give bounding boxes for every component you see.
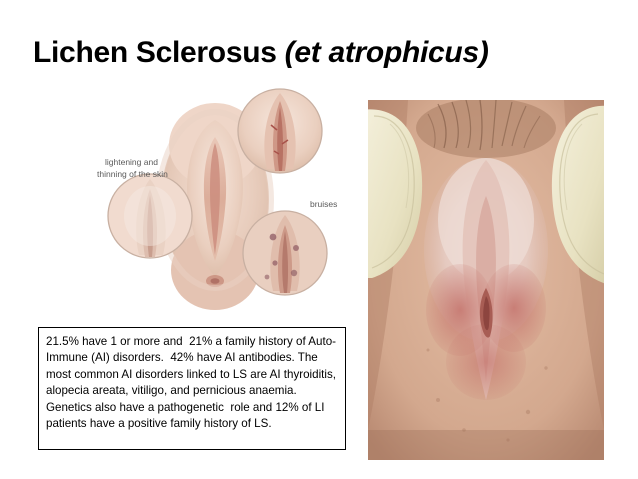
fact-text-box-content: 21.5% have 1 or more and 21% a family hi…	[46, 334, 338, 432]
page-title-italic: (et atrophicus)	[285, 36, 489, 69]
vulva-anatomy-diagram: cuts lightening and thinning of the skin	[95, 85, 340, 315]
page-title: Lichen Sclerosus (et atrophicus)	[33, 36, 489, 70]
illustration-label-lightening: lightening and	[105, 157, 158, 167]
clinical-photograph-vulva-lichen-sclerosus	[368, 100, 604, 460]
illustration-callout-cuts: cuts	[238, 85, 322, 173]
page-title-main: Lichen Sclerosus	[33, 36, 285, 69]
illustration-label-thinning: thinning of the skin	[97, 169, 168, 179]
illustration-label-bruises: bruises	[310, 199, 337, 209]
fact-text-box: 21.5% have 1 or more and 21% a family hi…	[38, 327, 346, 450]
